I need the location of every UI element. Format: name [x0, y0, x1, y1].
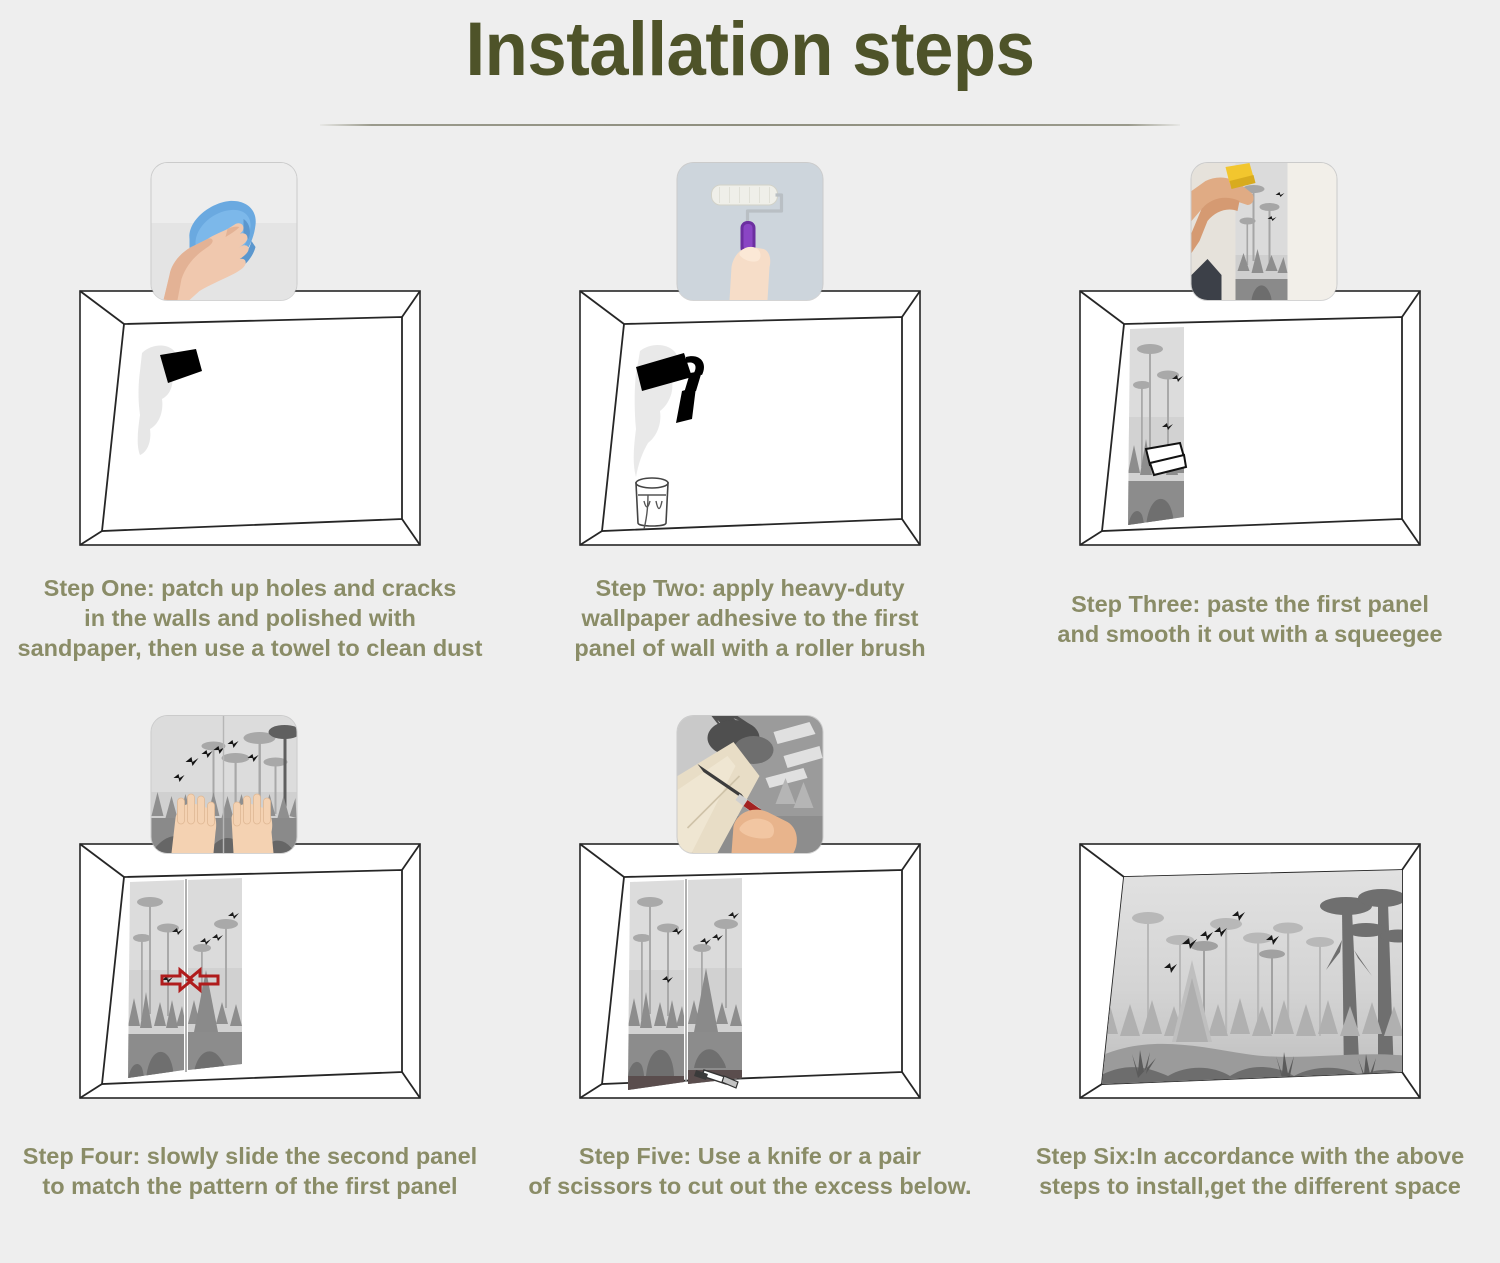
caption-line: wallpaper adhesive to the first	[506, 604, 994, 634]
room-with-panels-being-trimmed-at-floor	[576, 820, 924, 1120]
caption-line: Step Two: apply heavy-duty	[506, 574, 994, 604]
person-smoothing-wallpaper-panel-photo	[1192, 163, 1337, 300]
step-five-caption: Step Five: Use a knife or a pair of scis…	[500, 1142, 1000, 1202]
caption-line: Step One: patch up holes and cracks	[6, 574, 494, 604]
step-card-four: Step Four: slowly slide the second panel…	[0, 708, 500, 1261]
step-card-three: Step Three: paste the first panel and sm…	[1000, 155, 1500, 708]
room-with-sandpaper-block	[76, 267, 424, 567]
caption-line: panel of wall with a roller brush	[506, 634, 994, 664]
caption-line: Step Five: Use a knife or a pair	[506, 1142, 994, 1172]
page-header: Installation steps	[0, 0, 1500, 126]
caption-line: Step Three: paste the first panel	[1006, 590, 1494, 620]
installation-steps-grid: Step One: patch up holes and cracks in t…	[0, 155, 1500, 1260]
hand-wiping-wall-with-blue-cloth-photo	[152, 163, 297, 300]
caption-line: Step Four: slowly slide the second panel	[6, 1142, 494, 1172]
room-with-completed-forest-mural	[1076, 820, 1424, 1120]
step-card-five: Step Five: Use a knife or a pair of scis…	[500, 708, 1000, 1261]
step-card-one: Step One: patch up holes and cracks in t…	[0, 155, 500, 708]
two-hands-aligning-wallpaper-seam-illustration	[152, 716, 297, 853]
caption-line: Step Six:In accordance with the above	[1006, 1142, 1494, 1172]
step-six-caption: Step Six:In accordance with the above st…	[1000, 1142, 1500, 1202]
step-two-caption: Step Two: apply heavy-duty wallpaper adh…	[500, 574, 1000, 664]
room-with-roller-and-paste-bucket	[576, 267, 924, 567]
room-with-one-mural-panel	[1076, 267, 1424, 567]
page-title: Installation steps	[53, 8, 1448, 92]
step-three-caption: Step Three: paste the first panel and sm…	[1000, 590, 1500, 650]
caption-line: sandpaper, then use a towel to clean dus…	[6, 634, 494, 664]
caption-line: steps to install,get the different space	[1006, 1172, 1494, 1202]
step-one-caption: Step One: patch up holes and cracks in t…	[0, 574, 500, 664]
caption-line: of scissors to cut out the excess below.	[506, 1172, 994, 1202]
hand-holding-paint-roller-photo	[678, 163, 823, 300]
step-card-six: Step Six:In accordance with the above st…	[1000, 708, 1500, 1261]
caption-line: and smooth it out with a squeegee	[1006, 620, 1494, 650]
room-with-two-mural-panels-and-alignment-arrows	[76, 820, 424, 1120]
caption-line: in the walls and polished with	[6, 604, 494, 634]
title-divider	[320, 124, 1180, 126]
caption-line: to match the pattern of the first panel	[6, 1172, 494, 1202]
step-card-two: Step Two: apply heavy-duty wallpaper adh…	[500, 155, 1000, 708]
utility-knife-trimming-wallpaper-photo	[678, 716, 823, 853]
step-four-caption: Step Four: slowly slide the second panel…	[0, 1142, 500, 1202]
